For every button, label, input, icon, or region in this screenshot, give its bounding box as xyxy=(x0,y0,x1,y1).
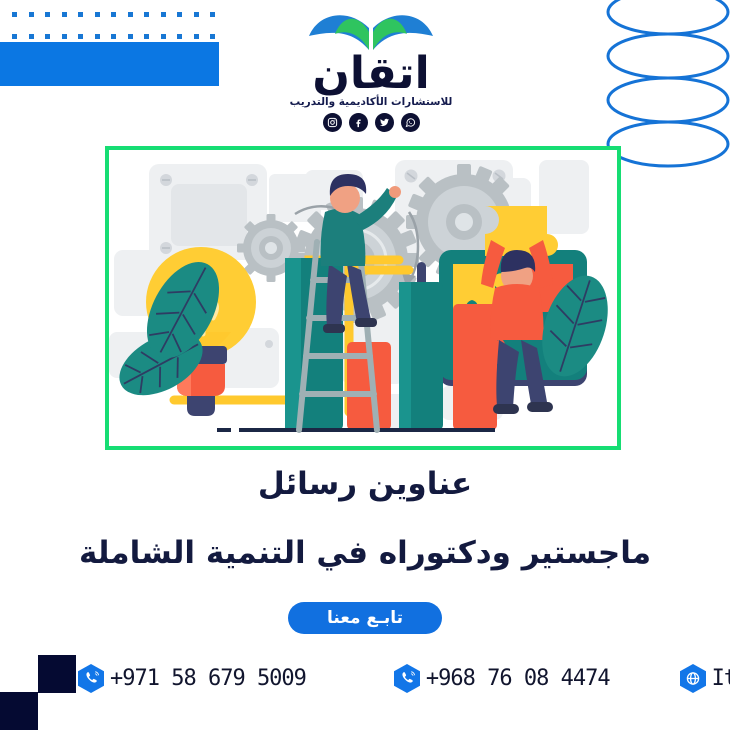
dot-grid-dot xyxy=(128,34,133,39)
logo-wordmark-text: اتقان xyxy=(281,50,461,98)
dot-grid-dot xyxy=(128,12,133,17)
contact-phone-uae[interactable]: +971 58 679 5009 xyxy=(78,664,306,693)
headline-line-2: ماجستير ودكتوراه في التنمية الشاملة xyxy=(0,535,730,571)
contact-phone-oman[interactable]: +968 76 08 4474 xyxy=(394,664,610,693)
dot-grid-dot xyxy=(45,34,50,39)
contact-value: +968 76 08 4474 xyxy=(426,666,610,691)
follow-us-button[interactable]: تابـع معنا xyxy=(288,602,442,634)
logo-wordmark: اتقان xyxy=(281,50,461,98)
whatsapp-icon[interactable] xyxy=(401,113,420,132)
dot-grid-dot xyxy=(78,34,83,39)
facebook-icon[interactable] xyxy=(349,113,368,132)
checker-square-decoration xyxy=(0,692,38,730)
phone-hexagon-icon xyxy=(394,664,420,693)
brand-logo[interactable]: اتقان للاستشارات الأكاديمية والتدريب xyxy=(281,6,461,136)
twitter-icon[interactable] xyxy=(375,113,394,132)
dot-grid-dot xyxy=(29,34,34,39)
dot-grid-dot xyxy=(144,34,149,39)
dot-grid-dot xyxy=(194,12,199,17)
dot-grid-dot xyxy=(45,12,50,17)
dot-grid-dot xyxy=(29,12,34,17)
dot-grid-dot xyxy=(62,34,67,39)
dot-grid-dot xyxy=(144,12,149,17)
illustration-frame xyxy=(105,146,621,450)
globe-hexagon-icon xyxy=(680,664,706,693)
dot-grid-dot xyxy=(111,12,116,17)
dot-grid-dot xyxy=(78,12,83,17)
contact-value: Itqanx.com xyxy=(712,666,730,691)
teamwork-idea-illustration xyxy=(109,150,617,446)
dot-grid-dot xyxy=(111,34,116,39)
phone-hexagon-icon xyxy=(78,664,104,693)
instagram-icon[interactable] xyxy=(323,113,342,132)
contact-website[interactable]: Itqanx.com xyxy=(680,664,730,693)
dot-grid-dot xyxy=(177,12,182,17)
blue-bar-decoration xyxy=(0,42,219,86)
dot-grid-dot xyxy=(210,34,215,39)
dot-grid-dot xyxy=(177,34,182,39)
dot-grid-dot xyxy=(194,34,199,39)
dot-grid-dot xyxy=(95,12,100,17)
dot-grid-dot xyxy=(62,12,67,17)
headline-line-1: عناوين رسائل xyxy=(0,466,730,502)
dot-grid-dot xyxy=(161,34,166,39)
dot-grid-dot xyxy=(161,12,166,17)
checker-square-decoration xyxy=(38,655,76,693)
open-book-wings-icon xyxy=(301,6,441,52)
contact-value: +971 58 679 5009 xyxy=(110,666,306,691)
dot-grid-dot xyxy=(210,12,215,17)
social-icons-row xyxy=(281,113,461,132)
contact-bar: +971 58 679 5009 +968 76 08 4474 xyxy=(78,660,718,696)
dot-grid-dot xyxy=(95,34,100,39)
dot-grid-decoration xyxy=(12,12,227,42)
dot-grid-dot xyxy=(12,34,17,39)
poster-canvas: اتقان للاستشارات الأكاديمية والتدريب xyxy=(0,0,730,730)
dot-grid-dot xyxy=(12,12,17,17)
